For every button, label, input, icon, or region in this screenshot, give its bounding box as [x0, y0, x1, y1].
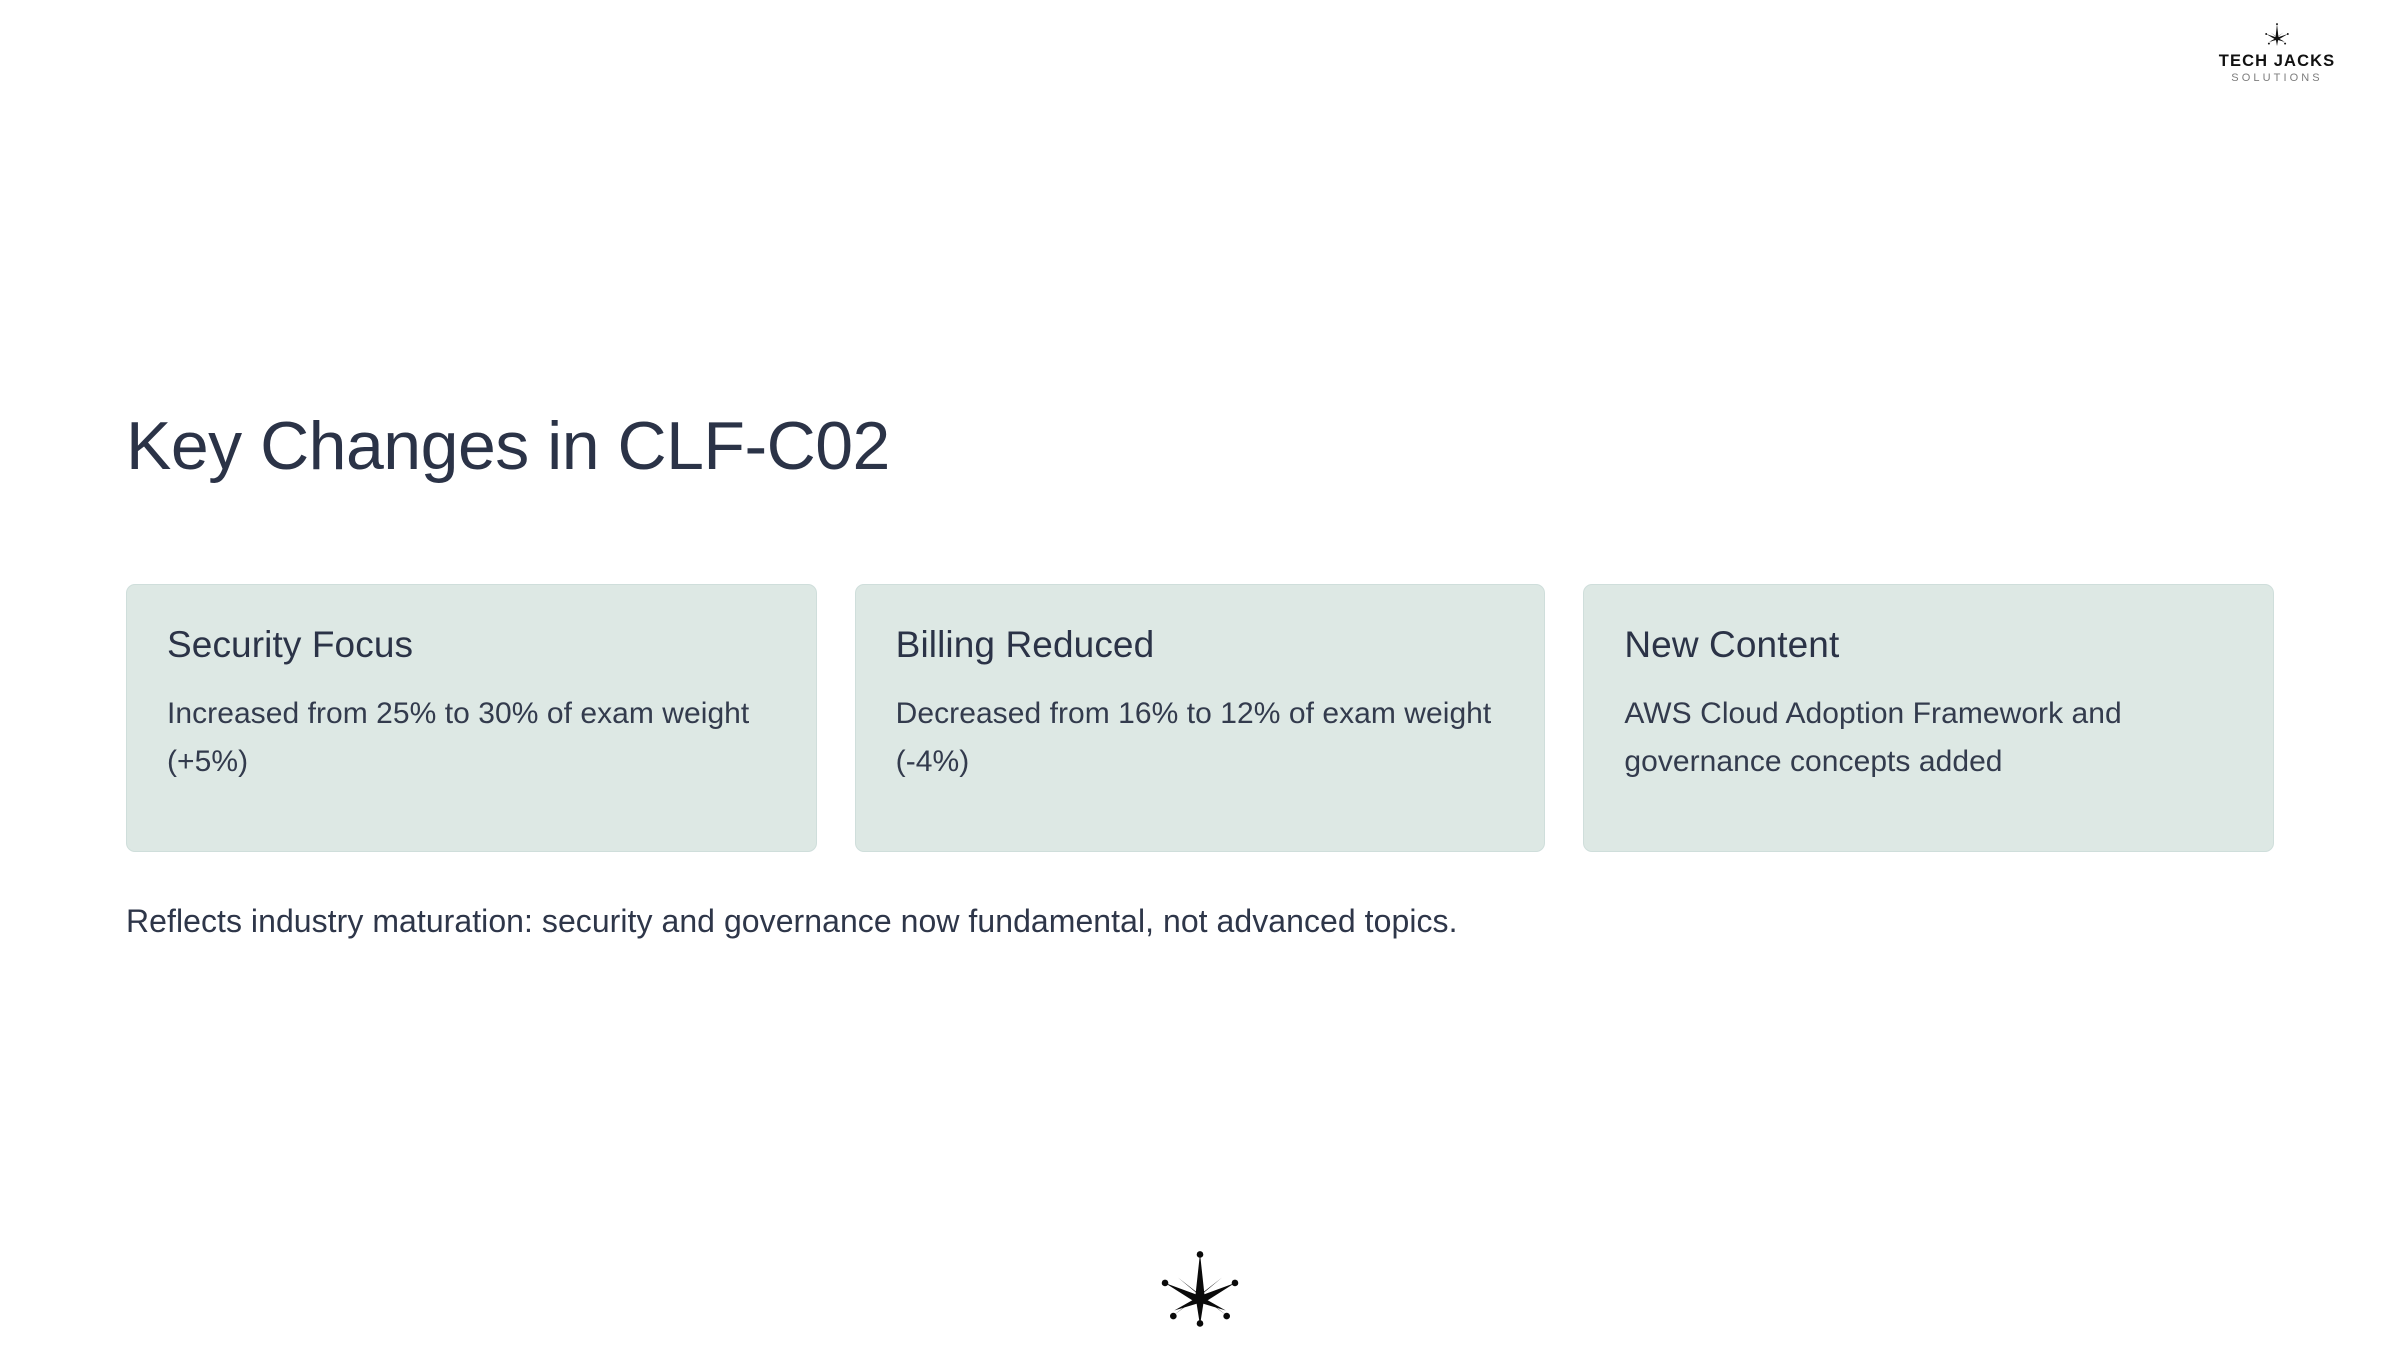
card-body: AWS Cloud Adoption Framework and governa…: [1624, 690, 2233, 787]
brand-name: TECH JACKS: [2219, 53, 2335, 70]
star-burst-icon: [2262, 22, 2292, 52]
brand-logo: TECH JACKS SOLUTIONS: [2202, 22, 2352, 84]
card-body: Decreased from 16% to 12% of exam weight…: [896, 690, 1505, 787]
star-burst-icon: [1154, 1248, 1246, 1340]
footer-caption: Reflects industry maturation: security a…: [126, 898, 1458, 944]
card-title: Billing Reduced: [896, 625, 1505, 666]
key-changes-card-row: Security Focus Increased from 25% to 30%…: [126, 584, 2274, 852]
card-title: New Content: [1624, 625, 2233, 666]
card-body: Increased from 25% to 30% of exam weight…: [167, 690, 776, 787]
slide-canvas: TECH JACKS SOLUTIONS Key Changes in CLF-…: [0, 0, 2400, 1350]
key-change-card: Security Focus Increased from 25% to 30%…: [126, 584, 817, 852]
key-change-card: Billing Reduced Decreased from 16% to 12…: [855, 584, 1546, 852]
page-title: Key Changes in CLF-C02: [126, 408, 890, 484]
card-title: Security Focus: [167, 625, 776, 666]
key-change-card: New Content AWS Cloud Adoption Framework…: [1583, 584, 2274, 852]
brand-subtitle: SOLUTIONS: [2231, 73, 2322, 84]
